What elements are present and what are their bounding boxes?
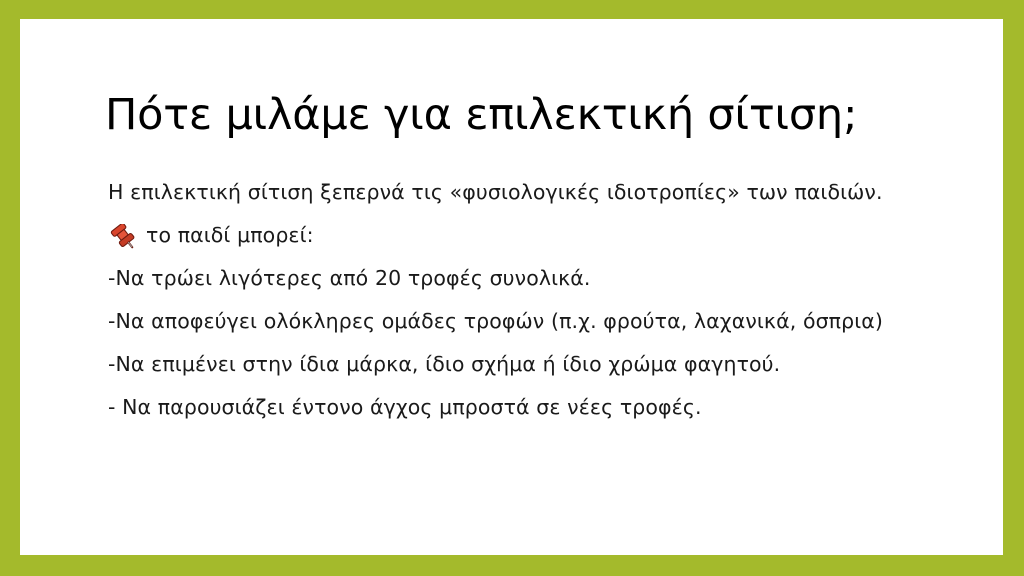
body-line-bullet-3: -Να επιμένει στην ίδια μάρκα, ίδιο σχήμα… bbox=[108, 343, 948, 386]
body-line-bullet-4: - Να παρουσιάζει έντονο άγχος μπροστά σε… bbox=[108, 386, 948, 429]
slide-body: Η επιλεκτική σίτιση ξεπερνά τις «φυσιολο… bbox=[108, 171, 948, 429]
body-line-bullet-2: -Να αποφεύγει ολόκληρες ομάδες τροφών (π… bbox=[108, 300, 948, 343]
slide-title: Πότε μιλάμε για επιλεκτική σίτιση; bbox=[105, 90, 965, 141]
body-line-intro: Η επιλεκτική σίτιση ξεπερνά τις «φυσιολο… bbox=[108, 171, 948, 214]
presentation-slide: Πότε μιλάμε για επιλεκτική σίτιση; Η επι… bbox=[0, 0, 1024, 576]
body-line-bullet-1: -Να τρώει λιγότερες από 20 τροφές συνολι… bbox=[108, 257, 948, 300]
slide-content-area: Πότε μιλάμε για επιλεκτική σίτιση; Η επι… bbox=[20, 19, 1003, 555]
body-line-lead-in-label: το παιδί μπορεί: bbox=[146, 214, 314, 257]
body-line-lead-in: το παιδί μπορεί: bbox=[108, 214, 948, 257]
pushpin-icon bbox=[108, 224, 138, 250]
